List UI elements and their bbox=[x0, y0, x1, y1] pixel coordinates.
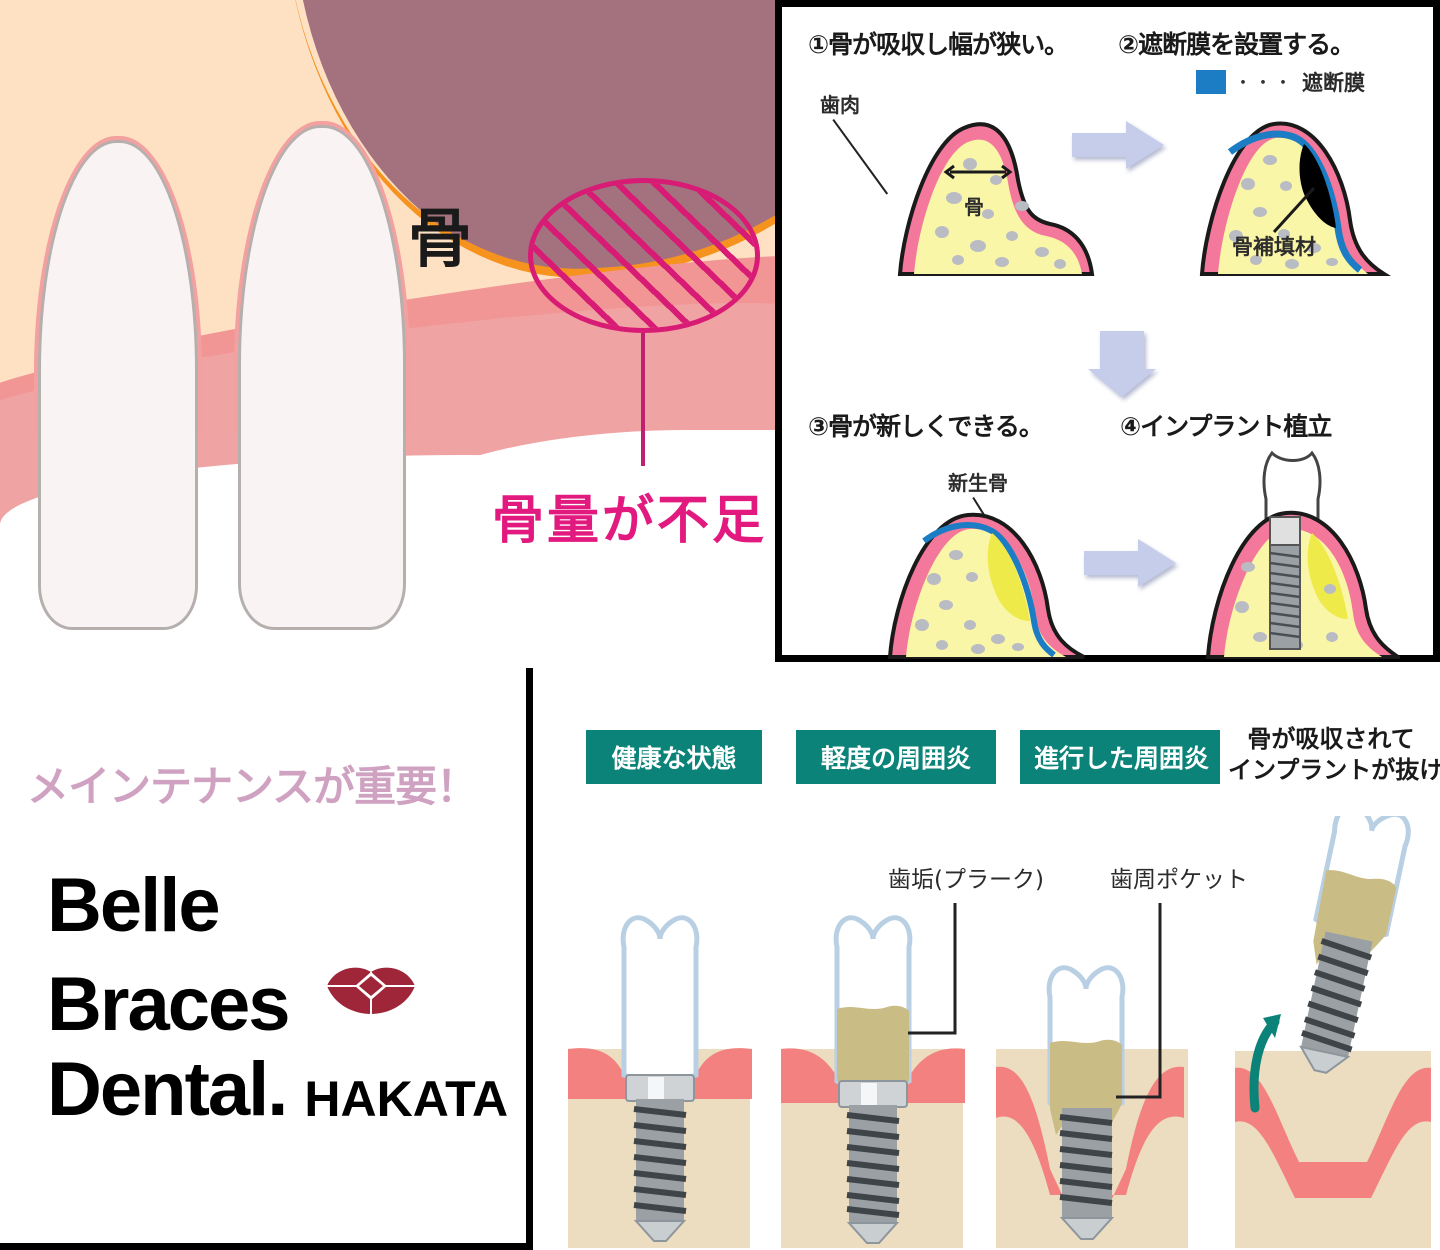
highlight-leader-line bbox=[641, 333, 645, 466]
brand-suffix-hakata: HAKATA bbox=[304, 1071, 508, 1127]
membrane-color-swatch bbox=[1196, 70, 1226, 94]
gbr-step-1: ①骨が吸収し幅が狭い。 bbox=[808, 25, 1068, 61]
brand-line-3-text: Dental. bbox=[47, 1047, 286, 1132]
lips-icon bbox=[325, 948, 417, 1033]
gbr-step-1-title: ①骨が吸収し幅が狭い。 bbox=[808, 25, 1068, 61]
bone-deficiency-illustration: 骨 骨量が不足 bbox=[0, 0, 775, 665]
stage-label-healthy: 健康な状態 bbox=[586, 730, 762, 784]
stage-art-mild bbox=[773, 903, 973, 1248]
gbr-step-3-title: ③骨が新しくできる。 bbox=[808, 407, 1043, 443]
gbr-step-4-title: ④インプラント植立 bbox=[1120, 407, 1331, 443]
bone-deficiency-label: 骨量が不足 bbox=[492, 478, 767, 553]
callout-plaque: 歯垢(プラーク) bbox=[888, 860, 1044, 894]
brand-line-2-text: Braces bbox=[47, 962, 289, 1047]
brand-line-3: Dental. HAKATA bbox=[47, 1047, 508, 1132]
gbr-arrow-3-to-4 bbox=[1082, 537, 1178, 591]
brand-line-1: Belle bbox=[47, 863, 508, 948]
bone-label: 骨 bbox=[408, 208, 472, 272]
stage-label-advanced: 進行した周囲炎 bbox=[1020, 730, 1220, 784]
stage-label-failure: 骨が吸収されて インプラントが抜ける bbox=[1228, 724, 1434, 785]
tooth-1 bbox=[38, 140, 198, 630]
brand-line-1-text: Belle bbox=[47, 863, 219, 948]
gbr-step-1-gum-leader bbox=[832, 119, 888, 195]
gbr-procedure-diagram: ①骨が吸収し幅が狭い。 歯肉 骨 ② bbox=[775, 0, 1440, 662]
legend-membrane-label: 遮断膜 bbox=[1302, 67, 1365, 97]
stage-label-mild: 軽度の周囲炎 bbox=[796, 730, 996, 784]
brand-line-2: Braces bbox=[47, 948, 508, 1047]
gbr-step-4: ④インプラント植立 bbox=[1120, 407, 1331, 443]
gbr-step-3: ③骨が新しくできる。 bbox=[808, 407, 1043, 443]
svg-text:骨補填材: 骨補填材 bbox=[1232, 235, 1316, 259]
gbr-membrane-legend: ・・・ 遮断膜 bbox=[1196, 67, 1365, 97]
stage-art-failure bbox=[1203, 816, 1438, 1248]
legend-dots: ・・・ bbox=[1234, 69, 1294, 95]
gbr-step-4-ridge bbox=[1200, 447, 1400, 665]
stage-label-failure-line2: インプラントが抜ける bbox=[1228, 755, 1434, 786]
brand-logo: Belle Braces Dental. HAKATA bbox=[47, 863, 508, 1132]
stage-art-healthy bbox=[560, 903, 760, 1248]
clinic-logo-panel: メインテナンスが重要！ Belle Braces Dental. HAKATA bbox=[0, 668, 533, 1250]
gbr-arrow-1-to-2 bbox=[1070, 119, 1166, 173]
hatch-pattern bbox=[528, 178, 760, 333]
gbr-step-2-title: ②遮断膜を設置する。 bbox=[1118, 25, 1365, 61]
maintenance-tagline: メインテナンスが重要！ bbox=[27, 753, 477, 814]
gbr-step-3-newbone-label: 新生骨 bbox=[948, 467, 1008, 496]
gbr-step-2-ridge: 骨補填材 bbox=[1192, 102, 1392, 282]
stage-art-advanced bbox=[988, 903, 1198, 1248]
tooth-2 bbox=[238, 125, 406, 630]
stage-label-failure-line1: 骨が吸収されて bbox=[1228, 724, 1434, 755]
peri-implantitis-stages-panel: 健康な状態 軽度の周囲炎 進行した周囲炎 骨が吸収されて インプラントが抜ける … bbox=[548, 668, 1440, 1250]
gbr-step-3-ridge bbox=[882, 497, 1092, 665]
gbr-step-1-gum-label: 歯肉 bbox=[820, 89, 860, 118]
svg-text:骨: 骨 bbox=[964, 195, 984, 219]
gbr-arrow-2-to-3 bbox=[1082, 329, 1162, 399]
bone-deficiency-highlight-ellipse bbox=[528, 178, 760, 333]
gbr-step-2: ②遮断膜を設置する。 ・・・ 遮断膜 bbox=[1118, 25, 1365, 97]
